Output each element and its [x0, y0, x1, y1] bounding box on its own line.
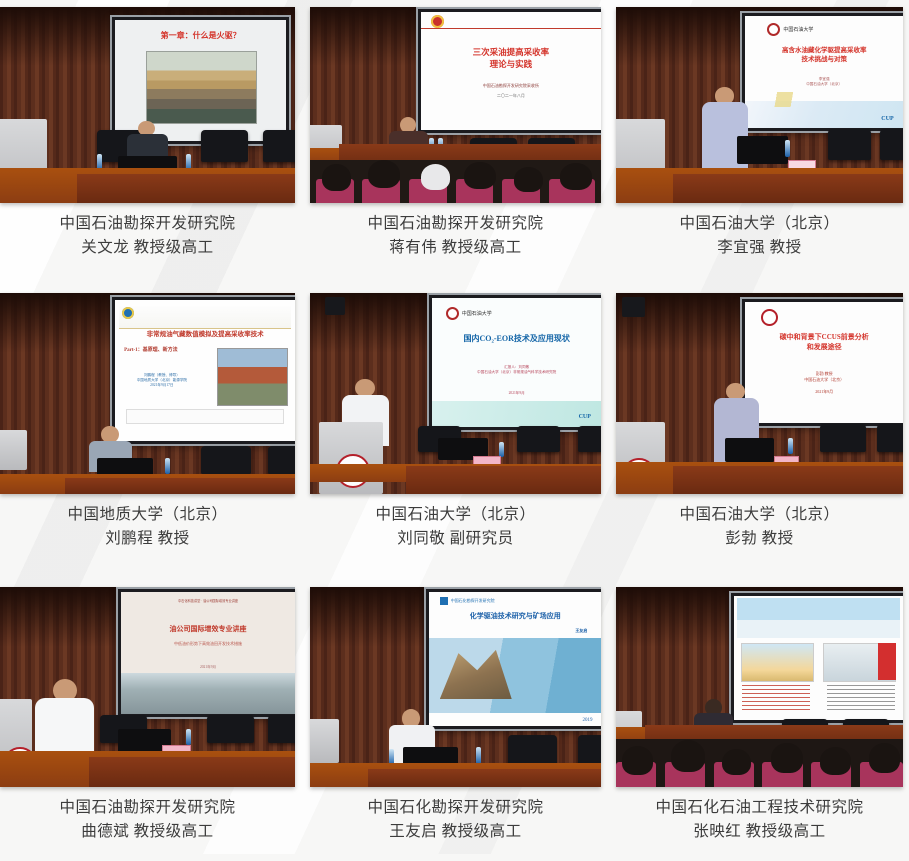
slide-hero	[737, 598, 900, 638]
chair	[268, 715, 295, 743]
laptop	[725, 438, 774, 462]
slide-photo-band	[121, 673, 295, 714]
slide-banner	[119, 306, 292, 330]
chair	[263, 130, 295, 161]
slide-subtitle: 李宜强 中国石油大学（北京）	[745, 77, 903, 87]
slide-title: 三次采油提高采收率 理论与实践	[421, 47, 601, 70]
caption-speaker-1: 中国石油勘探开发研究院 关文龙 教授级高工	[59, 212, 235, 261]
slide-year: 2019	[583, 718, 593, 723]
podium	[0, 430, 27, 470]
chair	[201, 130, 248, 161]
university-crest-icon	[446, 307, 459, 320]
photo-speaker-5[interactable]: 中国石油大学 国内CO₂-EOR技术及应用现状 汇报人：刘同敬 中国石油大学（北…	[310, 293, 601, 494]
water-bottle	[499, 442, 504, 457]
chair	[578, 426, 601, 452]
gallery-item[interactable]: 三次采油提高采收率 理论与实践 中国石油勘探开发研究院采收所 二〇二一年八月	[310, 7, 601, 293]
projection-screen: 非常规油气藏数值模拟及提高采收率技术 Part-1：基原理、新方法 刘鹏程（教授…	[112, 297, 295, 444]
caption-speaker-5: 中国石油大学（北京） 刘同敬 副研究员	[375, 503, 535, 552]
chair	[517, 426, 561, 452]
chair	[877, 424, 903, 452]
wall-speaker-box	[622, 297, 645, 317]
photo-speaker-8[interactable]: 中国石化勘探开发研究院 化学驱油技术研究与矿场应用 王友启 2019	[310, 587, 601, 787]
caption-speaker-3: 中国石油大学（北京） 李宜强 教授	[679, 212, 839, 261]
water-bottle	[186, 729, 191, 745]
photo-speaker-2[interactable]: 三次采油提高采收率 理论与实践 中国石油勘探开发研究院采收所 二〇二一年八月	[310, 7, 601, 203]
slide-subtitle: Part-1：基原理、新方法	[124, 346, 178, 353]
chair	[880, 129, 903, 160]
slide-header-band	[421, 12, 601, 29]
slide-footer: CUP	[881, 116, 893, 122]
projection-screen: 中国石油大学 高含水油藏化学驱提高采收率 技术挑战与对策 李宜强 中国石油大学（…	[742, 13, 903, 131]
slide-subtitle: 汇报人：刘同敬 中国石油大学（北京）非常规油气科学技术研究院	[432, 365, 601, 375]
chair	[828, 129, 871, 160]
slide-logo: 中国石油大学	[767, 23, 813, 36]
caption-speaker-8: 中国石化勘探开发研究院 王友启 教授级高工	[367, 796, 543, 845]
chair	[268, 446, 295, 474]
caption-speaker: 关文龙 教授级高工	[59, 236, 235, 260]
water-bottle	[476, 747, 481, 764]
photo-speaker-1[interactable]: 第一章：什么是火驱？	[0, 7, 295, 203]
caption-speaker: 张映红 教授级高工	[655, 820, 863, 844]
caption-speaker: 刘鹏程 教授	[67, 527, 227, 551]
projection-screen: 中石化科技讲堂 · 油公司国际增效专业讲座 油公司国际增效专业讲座 中低油价形势…	[118, 589, 295, 717]
audience	[310, 160, 601, 203]
caption-speaker: 李宜强 教授	[679, 236, 839, 260]
slide-title: 化学驱油技术研究与矿场应用	[429, 612, 601, 621]
slide-brand: CUP	[579, 414, 591, 420]
caption-organization: 中国石油大学（北京）	[375, 506, 535, 523]
chair	[207, 715, 254, 743]
gallery-item[interactable]: 中国石油大学 高含水油藏化学驱提高采收率 技术挑战与对策 李宜强 中国石油大学（…	[616, 7, 903, 293]
slide-text-right	[827, 685, 895, 712]
slide-wave	[745, 92, 903, 108]
projection-screen: 中国石化勘探开发研究院 化学驱油技术研究与矿场应用 王友启 2019	[426, 589, 601, 729]
projection-screen: 三次采油提高采收率 理论与实践 中国石油勘探开发研究院采收所 二〇二一年八月	[418, 9, 601, 133]
caption-speaker-2: 中国石油勘探开发研究院 蒋有伟 教授级高工	[367, 212, 543, 261]
wall-speaker-box	[325, 297, 345, 315]
slide-title: 第一章：什么是火驱？	[115, 31, 286, 42]
chair	[578, 735, 601, 765]
emblem-icon	[761, 309, 778, 326]
water-bottle	[788, 438, 793, 454]
chair	[201, 446, 251, 474]
slide-figure	[146, 51, 258, 123]
slide-logo: 中国石化勘探开发研究院	[440, 597, 495, 605]
slide-subtitle: 中低油价形势下高效油田开发技术措施	[121, 641, 295, 647]
photo-speaker-4[interactable]: 非常规油气藏数值模拟及提高采收率技术 Part-1：基原理、新方法 刘鹏程（教授…	[0, 293, 295, 494]
caption-organization: 中国石油大学（北京）	[679, 215, 839, 232]
slide-panel-accent	[878, 643, 897, 680]
podium	[310, 719, 339, 763]
caption-organization: 中国石化勘探开发研究院	[367, 799, 543, 816]
laptop	[737, 136, 789, 163]
slide-subtitle: 王友启	[575, 628, 587, 634]
table-front	[368, 769, 601, 787]
table-front	[89, 757, 296, 787]
gallery-item[interactable]: 中石化科技讲堂 · 油公司国际增效专业讲座 油公司国际增效专业讲座 中低油价形势…	[0, 587, 295, 861]
slide-date: 2021年9月	[745, 389, 903, 395]
slide-note	[126, 409, 284, 424]
slide-title: 油公司国际增效专业讲座	[121, 625, 295, 634]
chair	[508, 735, 557, 765]
caption-speaker-6: 中国石油大学（北京） 彭勃 教授	[679, 503, 839, 552]
photo-speaker-9[interactable]	[616, 587, 903, 787]
photo-speaker-7[interactable]: 中石化科技讲堂 · 油公司国际增效专业讲座 油公司国际增效专业讲座 中低油价形势…	[0, 587, 295, 787]
presenter	[124, 121, 171, 160]
caption-speaker-7: 中国石油勘探开发研究院 曲德斌 教授级高工	[59, 796, 235, 845]
caption-speaker: 蒋有伟 教授级高工	[367, 236, 543, 260]
projection-screen	[731, 593, 903, 723]
caption-speaker: 彭勃 教授	[679, 527, 839, 551]
slide-footer: 刘鹏程（教授、博导） 中国地质大学（北京）能源学院 2021年9月17日	[126, 373, 198, 388]
gallery-item[interactable]: 碳中和背景下CCUS前景分析 和发展途径 彭勃 教授 中国石油大学（北京） 20…	[616, 293, 903, 587]
slide-eyebrow: 中石化科技讲堂 · 油公司国际增效专业讲座	[128, 598, 288, 603]
water-bottle	[165, 458, 170, 474]
caption-speaker: 王友启 教授级高工	[367, 820, 543, 844]
gallery-item[interactable]: 中国石化勘探开发研究院 化学驱油技术研究与矿场应用 王友启 2019	[310, 587, 601, 861]
slide-title: 碳中和背景下CCUS前景分析 和发展途径	[748, 333, 900, 352]
photo-speaker-3[interactable]: 中国石油大学 高含水油藏化学驱提高采收率 技术挑战与对策 李宜强 中国石油大学（…	[616, 7, 903, 203]
slide-text-left	[742, 685, 810, 712]
audience	[616, 739, 903, 787]
gallery-item[interactable]: 非常规油气藏数值模拟及提高采收率技术 Part-1：基原理、新方法 刘鹏程（教授…	[0, 293, 295, 587]
caption-organization: 中国地质大学（北京）	[67, 506, 227, 523]
university-crest-icon	[767, 23, 780, 36]
slide-subtitle: 中国石油勘探开发研究院采收所	[421, 83, 601, 89]
table-front	[673, 174, 903, 203]
caption-speaker: 刘同敬 副研究员	[375, 527, 535, 551]
gallery-item[interactable]: 第一章：什么是火驱？ 中国石油勘探开发研究院 关文龙 教授级高工	[0, 7, 295, 293]
gallery-item[interactable]: 中国石化石油工程技术研究院 张映红 教授级高工	[616, 587, 903, 861]
slide-footer-band	[432, 401, 601, 427]
slide-title: 国内CO₂-EOR技术及应用现状	[436, 334, 598, 345]
table-front	[77, 174, 295, 203]
slide-title: 非常规油气藏数值模拟及提高采收率技术	[122, 331, 288, 340]
slide-logo: 中国石油大学	[446, 307, 492, 320]
caption-speaker-4: 中国地质大学（北京） 刘鹏程 教授	[67, 503, 227, 552]
slide-title: 高含水油藏化学驱提高采收率 技术挑战与对策	[748, 47, 900, 65]
slide-date: 2021年9月	[121, 665, 295, 670]
table-front	[673, 466, 903, 494]
caption-organization: 中国石油大学（北京）	[679, 506, 839, 523]
speaker-gallery: 第一章：什么是火驱？ 中国石油勘探开发研究院 关文龙 教授级高工	[0, 0, 909, 861]
gallery-item[interactable]: 中国石油大学 国内CO₂-EOR技术及应用现状 汇报人：刘同敬 中国石油大学（北…	[310, 293, 601, 587]
slide-date: 2021年9月	[432, 391, 601, 396]
caption-organization: 中国石油勘探开发研究院	[367, 215, 543, 232]
slide-photo	[217, 348, 287, 406]
caption-speaker-9: 中国石化石油工程技术研究院 张映红 教授级高工	[655, 796, 863, 845]
slide-subtitle: 彭勃 教授 中国石油大学（北京）	[745, 371, 903, 383]
caption-speaker: 曲德斌 教授级高工	[59, 820, 235, 844]
caption-organization: 中国石化石油工程技术研究院	[655, 799, 863, 816]
caption-organization: 中国石油勘探开发研究院	[59, 799, 235, 816]
slide-panel-left	[741, 643, 814, 682]
caption-organization: 中国石油勘探开发研究院	[59, 215, 235, 232]
projection-screen: 碳中和背景下CCUS前景分析 和发展途径 彭勃 教授 中国石油大学（北京） 20…	[742, 299, 903, 426]
slide-footer: 二〇二一年八月	[421, 93, 601, 99]
projection-screen: 中国石油大学 国内CO₂-EOR技术及应用现状 汇报人：刘同敬 中国石油大学（北…	[429, 295, 601, 430]
water-bottle	[785, 140, 790, 157]
photo-speaker-6[interactable]: 碳中和背景下CCUS前景分析 和发展途径 彭勃 教授 中国石油大学（北京） 20…	[616, 293, 903, 494]
chair	[820, 424, 866, 452]
table-front	[406, 466, 601, 494]
table-front	[65, 478, 295, 494]
